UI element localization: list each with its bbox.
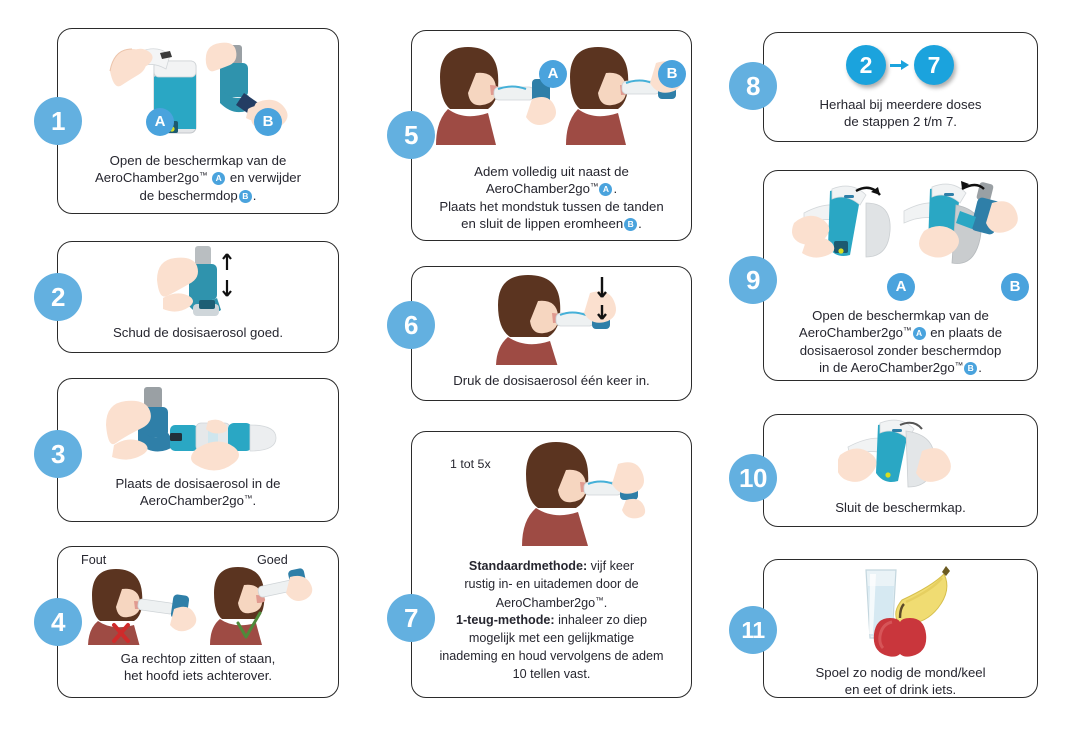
step-8-repeat-graphic: 2 7 [846, 45, 954, 85]
step-5-marker-a: A [539, 60, 567, 88]
step-11-artwork [840, 566, 970, 658]
step-1-caption-line-2: AeroChamber2go™ A en verwijder [66, 169, 330, 186]
repeat-to-circle: 7 [914, 45, 954, 85]
step-badge-5: 5 [387, 111, 435, 159]
step-11-caption-line-1: Spoel zo nodig de mond/keel [772, 664, 1029, 681]
step-2-artwork [143, 244, 263, 322]
step-4-artwork [72, 563, 326, 645]
step-card-3: Plaats de dosisaerosol in deAeroChamber2… [57, 378, 339, 522]
step-7-caption-line-1: Standaardmethode: vijf keer [420, 558, 683, 576]
step-card-1: A B Open de beschermkap van deAeroChambe… [57, 28, 339, 214]
step-card-7: 1 tot 5x Standaardmethode: vi [411, 431, 692, 698]
step-3-caption: Plaats de dosisaerosol in deAeroChamber2… [66, 475, 330, 510]
step-7-caption-line-4: 1-teug-methode: inhaleer zo diep [420, 612, 683, 630]
step-9-caption: Open de beschermkap van deAeroChamber2go… [772, 307, 1029, 377]
step-card-4: Fout Goed [57, 546, 339, 698]
step-card-11: Spoel zo nodig de mond/keelen eet of dri… [763, 559, 1038, 698]
step-1-marker-b: B [254, 108, 282, 136]
step-card-5: A B Adem volledig uit naast deAeroChambe… [411, 30, 692, 241]
step-2-caption-line-1: Schud de dosisaerosol goed. [66, 324, 330, 341]
step-10-artwork [838, 419, 974, 495]
step-11-caption: Spoel zo nodig de mond/keelen eet of dri… [772, 664, 1029, 699]
inline-marker-a: A [913, 327, 926, 340]
step-5-caption-line-3: Plaats het mondstuk tussen de tanden [420, 198, 683, 215]
step-badge-1: 1 [34, 97, 82, 145]
inline-marker-b: B [624, 218, 637, 231]
step-card-6: Druk de dosisaerosol één keer in. [411, 266, 692, 401]
step-8-caption-line-2: de stappen 2 t/m 7. [772, 113, 1029, 130]
step-badge-6: 6 [387, 301, 435, 349]
step-4-caption: Ga rechtop zitten of staan,het hoofd iet… [66, 650, 330, 685]
step-3-caption-line-2: AeroChamber2go™. [66, 492, 330, 509]
instruction-sheet: A B Open de beschermkap van deAeroChambe… [0, 0, 1087, 732]
step-7-caption-line-5: mogelijk met een gelijkmatige [420, 630, 683, 648]
step-5-caption-line-1: Adem volledig uit naast de [420, 163, 683, 180]
step-9-caption-line-4: in de AeroChamber2go™B. [772, 359, 1029, 376]
inline-marker-a: A [212, 172, 225, 185]
step-3-caption-line-1: Plaats de dosisaerosol in de [66, 475, 330, 492]
step-9-marker-b: B [1001, 273, 1029, 301]
step-card-8: 2 7 Herhaal bij meerdere dosesde stappen… [763, 32, 1038, 142]
step-1-marker-a: A [146, 108, 174, 136]
step-5-artwork [424, 41, 682, 151]
step-1-caption: Open de beschermkap van deAeroChamber2go… [66, 152, 330, 204]
step-7-caption-line-3: AeroChamber2go™. [420, 594, 683, 613]
step-10-caption-line-1: Sluit de beschermkap. [772, 499, 1029, 516]
step-7-caption-line-6: inademing en houd vervolgens de adem [420, 648, 683, 666]
step-11-caption-line-2: en eet of drink iets. [772, 681, 1029, 698]
step-badge-8: 8 [729, 62, 777, 110]
step-9-caption-line-2: AeroChamber2go™A en plaats de [772, 324, 1029, 341]
arrow-right-icon [890, 59, 910, 71]
step-3-artwork [100, 385, 300, 473]
step-7-caption-line-7: 10 tellen vast. [420, 666, 683, 684]
step-7-caption: Standaardmethode: vijf keerrustig in- en… [420, 558, 683, 684]
step-card-10: Sluit de beschermkap. [763, 414, 1038, 527]
step-6-caption: Druk de dosisaerosol één keer in. [420, 372, 683, 389]
step-9-marker-a: A [887, 273, 915, 301]
step-10-caption: Sluit de beschermkap. [772, 499, 1029, 516]
step-5-caption-line-2: AeroChamber2go™A. [420, 180, 683, 197]
step-5-caption-line-4: en sluit de lippen eromheenB. [420, 215, 683, 232]
step-6-artwork [480, 273, 640, 365]
step-7-repeat-hint: 1 tot 5x [450, 457, 491, 471]
step-9-caption-line-3: dosisaerosol zonder beschermdop [772, 342, 1029, 359]
step-8-caption-line-1: Herhaal bij meerdere doses [772, 96, 1029, 113]
step-1-caption-line-3: de beschermdopB. [66, 187, 330, 204]
step-2-caption: Schud de dosisaerosol goed. [66, 324, 330, 341]
step-1-caption-line-1: Open de beschermkap van de [66, 152, 330, 169]
step-8-caption: Herhaal bij meerdere dosesde stappen 2 t… [772, 96, 1029, 131]
step-6-caption-line-1: Druk de dosisaerosol één keer in. [420, 372, 683, 389]
step-badge-10 wide: 10 [729, 454, 777, 502]
step-card-2: Schud de dosisaerosol goed. [57, 241, 339, 353]
step-badge-3: 3 [34, 430, 82, 478]
inline-marker-b: B [964, 362, 977, 375]
step-badge-11: 11 [729, 606, 777, 654]
step-5-caption: Adem volledig uit naast deAeroChamber2go… [420, 163, 683, 233]
step-7-artwork [510, 440, 670, 546]
step-7-caption-line-2: rustig in- en uitademen door de [420, 576, 683, 594]
step-4-caption-line-2: het hoofd iets achterover. [66, 667, 330, 684]
step-9-caption-line-1: Open de beschermkap van de [772, 307, 1029, 324]
repeat-from-circle: 2 [846, 45, 886, 85]
step-badge-2: 2 [34, 273, 82, 321]
step-badge-9: 9 [729, 256, 777, 304]
step-9-artwork [786, 177, 1026, 281]
step-badge-4: 4 [34, 598, 82, 646]
step-badge-7: 7 [387, 594, 435, 642]
inline-marker-b: B [239, 190, 252, 203]
step-4-caption-line-1: Ga rechtop zitten of staan, [66, 650, 330, 667]
step-5-marker-b: B [658, 60, 686, 88]
step-card-9: A B Open de beschermkap van deAeroChambe… [763, 170, 1038, 381]
inline-marker-a: A [599, 183, 612, 196]
